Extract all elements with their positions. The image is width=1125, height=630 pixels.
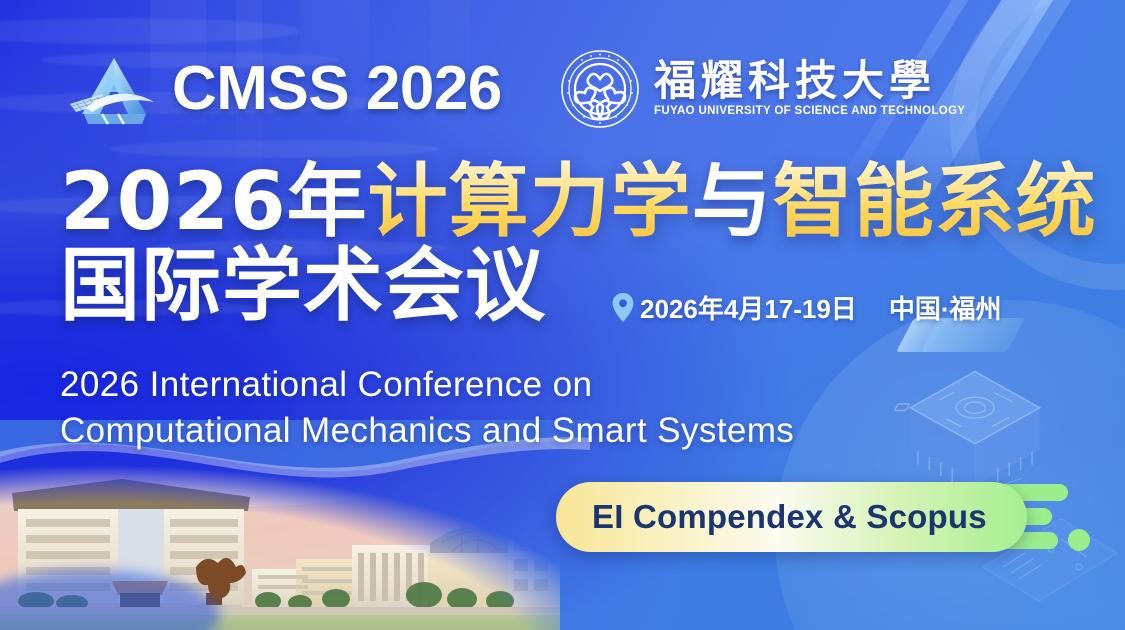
university-identity-block: 福耀科技大學 FUYAO UNIVERSITY OF SCIENCE AND T… bbox=[560, 48, 965, 130]
location-pin-icon bbox=[612, 293, 634, 322]
indexing-badge: EI Compendex & Scopus bbox=[556, 482, 1027, 552]
title-en-line-1: 2026 International Conference on bbox=[60, 362, 794, 408]
indexing-badge-label: EI Compendex & Scopus bbox=[592, 498, 987, 536]
cmss-triangle-logo-icon bbox=[62, 50, 166, 128]
fuyao-university-seal-icon bbox=[560, 49, 640, 129]
conference-banner: CMSS 2026 bbox=[0, 0, 1125, 630]
title-en-line-2: Computational Mechanics and Smart System… bbox=[60, 408, 794, 454]
university-name-en: FUYAO UNIVERSITY OF SCIENCE AND TECHNOLO… bbox=[654, 106, 965, 118]
indexing-badge-wrap: EI Compendex & Scopus bbox=[556, 482, 1027, 552]
banner-header: CMSS 2026 bbox=[62, 48, 502, 130]
title-cn-seg-compmech: 计算力学 bbox=[368, 155, 692, 248]
soft-circle-decoration bbox=[775, 300, 1125, 630]
title-cn-seg-year: 2026年 bbox=[60, 155, 368, 248]
diagonal-light-streak-decoration bbox=[951, 0, 1100, 157]
wisp-decoration bbox=[0, 18, 300, 44]
title-cn-seg-smartsys: 智能系统 bbox=[773, 155, 1097, 248]
conference-city: 中国·福州 bbox=[889, 289, 1002, 326]
title-cn-seg-and: 与 bbox=[692, 155, 773, 248]
university-name-cn: 福耀科技大學 bbox=[654, 60, 965, 102]
conference-title-en: 2026 International Conference on Computa… bbox=[60, 362, 794, 454]
title-cn-line-1: 2026年计算力学与智能系统 bbox=[60, 160, 1097, 244]
date-location-line: 2026年4月17-19日 中国·福州 bbox=[612, 289, 1001, 326]
conference-dates: 2026年4月17-19日 bbox=[640, 289, 857, 326]
conference-acronym-title: CMSS 2026 bbox=[172, 58, 502, 120]
